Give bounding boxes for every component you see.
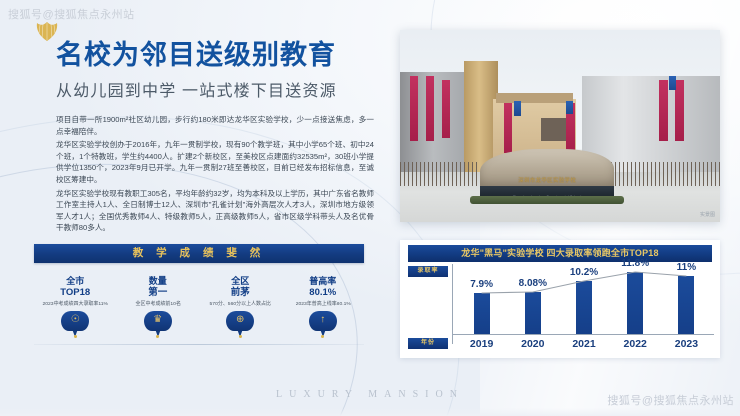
chart-trend-line (456, 266, 712, 334)
result-col-3: 普高率 80.1% 2023年普高上线率80.1% ↑ (282, 276, 365, 337)
people-chart-icon: ↑ (309, 311, 337, 337)
result-value: TOP18 (34, 287, 117, 299)
campus-photo: 深圳市龙华区实验学校 Shenzhen Longhua Experimental… (400, 30, 720, 222)
chart-x-tick: 2022 (610, 336, 661, 352)
result-subtext: 2023中考成绩四大录取率11% (36, 300, 115, 308)
result-subtext: 570分、560分以上人数占比 (201, 300, 280, 308)
chart-y-axis (452, 264, 453, 344)
chart-x-axis (452, 334, 714, 335)
result-col-2: 全区 前茅 570分、560分以上人数占比 ⊕ (199, 276, 282, 337)
trophy-icon: ♛ (144, 311, 172, 337)
results-divider (34, 344, 364, 345)
result-top-label: 全区 (199, 276, 282, 287)
result-value: 80.1% (282, 287, 365, 299)
chart-title: 龙华"黑马"实验学校 四大录取率领跑全市TOP18 (408, 245, 712, 262)
result-col-1: 数量 第一 全区中考成绩前10名 ♛ (117, 276, 200, 337)
body-paragraph-3: 龙华区实验学校现有教职工305名，平均年龄约32岁，均为本科及以上学历，其中广东… (56, 188, 374, 234)
page-title: 名校为邻目送级别教育 (0, 40, 392, 72)
result-top-label: 数量 (117, 276, 200, 287)
results-grid: 全市 TOP18 2023中考成绩四大录取率11% ☉ 数量 第一 全区中考成绩… (34, 276, 364, 337)
chart-x-tick: 2019 (456, 336, 507, 352)
chart-x-tick-labels: 20192020202120222023 (456, 336, 712, 352)
result-top-label: 普高率 (282, 276, 365, 287)
results-banner: 教 学 成 绩 斐 然 (34, 244, 364, 263)
chart-plot-area: 7.9%8.08%10.2%11.8%11% (456, 266, 712, 334)
result-glyph: ⊕ (226, 313, 254, 327)
result-glyph: ☉ (61, 313, 89, 327)
chart-ylabel: 录取率 (408, 266, 448, 277)
footer-brand: LUXURY MANSION (0, 389, 740, 400)
campus-photo-image: 深圳市龙华区实验学校 Shenzhen Longhua Experimental… (400, 30, 720, 222)
medal-icon: ⊕ (226, 311, 254, 337)
graduation-cap-icon: ☉ (61, 311, 89, 337)
result-subtext: 2023年普高上线率80.1% (283, 300, 362, 308)
body-copy: 项目自带一所1900m²社区幼儿园，步行约180米即达龙华区实验学校，少一点接送… (0, 114, 392, 234)
chart-x-tick: 2021 (558, 336, 609, 352)
body-paragraph-2: 龙华区实验学校创办于2016年，九年一贯制学校，现有90个教学班，其中小学65个… (56, 139, 374, 185)
chart-x-tick: 2023 (661, 336, 712, 352)
result-value: 前茅 (199, 287, 282, 299)
photo-watermark: 实景图 (700, 211, 715, 218)
chart-xlabel: 年份 (408, 338, 448, 349)
logo-row (0, 18, 392, 40)
results-section: 教 学 成 绩 斐 然 全市 TOP18 2023中考成绩四大录取率11% ☉ … (34, 244, 364, 337)
page-subtitle: 从幼儿园到中学 一站式楼下目送资源 (0, 82, 392, 102)
footer-gradient (0, 408, 740, 416)
left-column: 名校为邻目送级别教育 从幼儿园到中学 一站式楼下目送资源 项目自带一所1900m… (0, 18, 392, 236)
body-paragraph-1: 项目自带一所1900m²社区幼儿园，步行约180米即达龙华区实验学校，少一点接送… (56, 114, 374, 137)
chart-x-tick: 2020 (507, 336, 558, 352)
slide-canvas: 搜狐号@搜狐焦点永州站 搜狐号@搜狐焦点永州站 名校为邻目送级别教育 从幼儿园到… (0, 0, 740, 416)
stone-monument-text: 深圳市龙华区实验学校 (486, 176, 608, 184)
result-top-label: 全市 (34, 276, 117, 287)
admission-rate-chart: 龙华"黑马"实验学校 四大录取率领跑全市TOP18 录取率 年份 7.9%8.0… (400, 240, 720, 358)
result-glyph: ♛ (144, 313, 172, 327)
result-glyph: ↑ (309, 313, 337, 327)
gold-fan-logo-icon (34, 20, 60, 42)
result-subtext: 全区中考成绩前10名 (118, 300, 197, 308)
led-screen (541, 118, 570, 141)
result-value: 第一 (117, 287, 200, 299)
result-col-0: 全市 TOP18 2023中考成绩四大录取率11% ☉ (34, 276, 117, 337)
